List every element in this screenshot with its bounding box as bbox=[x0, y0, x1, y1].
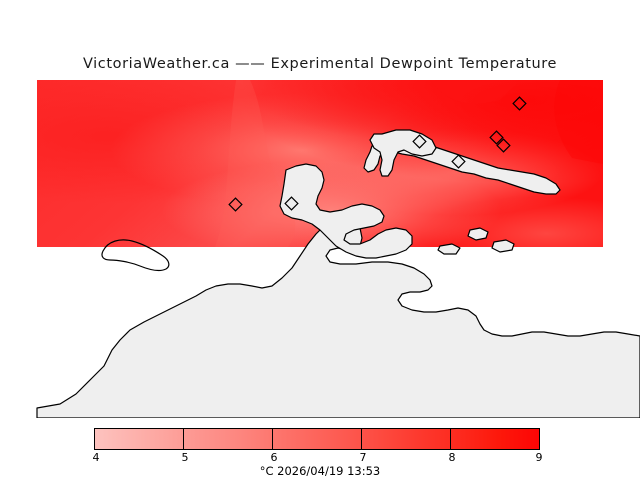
map-svg bbox=[0, 78, 640, 418]
colorbar-box bbox=[94, 428, 540, 450]
colorbar-tick-label: 8 bbox=[449, 451, 456, 464]
colorbar-tick bbox=[94, 428, 95, 450]
colorbar-tick bbox=[183, 428, 184, 450]
colorbar-tick-label: 4 bbox=[93, 451, 100, 464]
colorbar-tick-label: 5 bbox=[182, 451, 189, 464]
colorbar-tick bbox=[539, 428, 540, 450]
map-canvas[interactable] bbox=[0, 78, 640, 418]
colorbar-tick-label: 9 bbox=[536, 451, 543, 464]
colorbar: 4 5 6 7 8 9 °C 2026/04/19 13:53 bbox=[0, 424, 640, 480]
colorbar-tick-label: 7 bbox=[360, 451, 367, 464]
weather-map-page: VictoriaWeather.ca —— Experimental Dewpo… bbox=[0, 0, 640, 480]
colorbar-tick bbox=[450, 428, 451, 450]
land-islet-2 bbox=[492, 240, 514, 252]
colorbar-tick-label: 6 bbox=[271, 451, 278, 464]
page-title: VictoriaWeather.ca —— Experimental Dewpo… bbox=[0, 56, 640, 72]
colorbar-tick bbox=[361, 428, 362, 450]
colorbar-gradient bbox=[95, 429, 539, 449]
colorbar-caption: °C 2026/04/19 13:53 bbox=[0, 464, 640, 478]
colorbar-tick bbox=[272, 428, 273, 450]
